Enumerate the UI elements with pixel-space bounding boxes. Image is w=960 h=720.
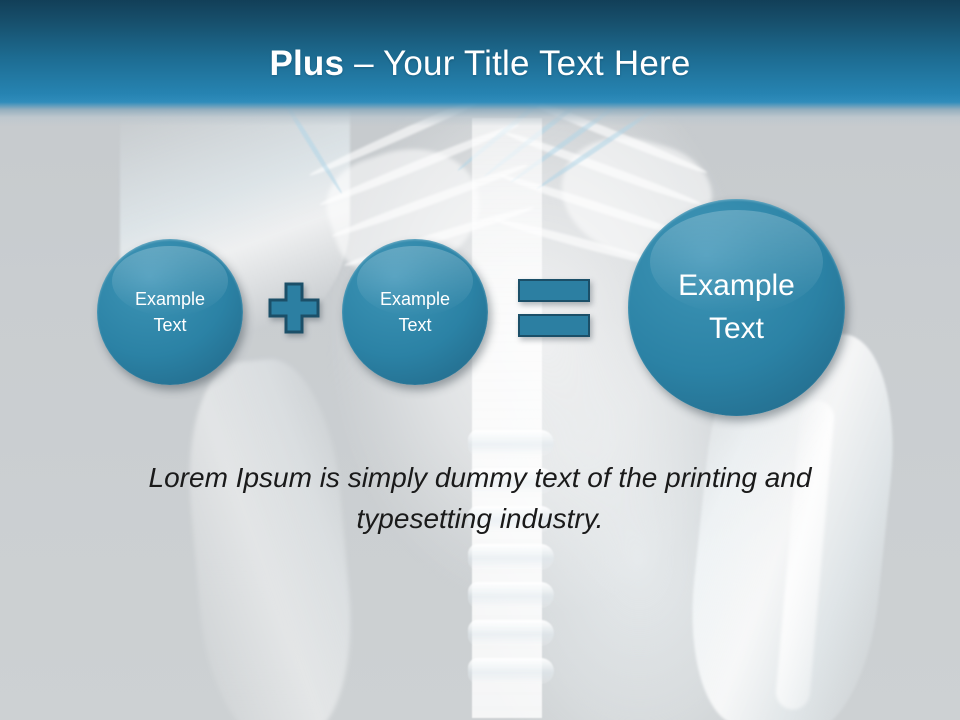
result-circle-line1: Example xyxy=(678,265,795,308)
equals-bar-top xyxy=(518,279,590,302)
operand-circle-2-line2: Text xyxy=(398,312,431,338)
plus-equals-diagram: Example Text Example Text Example Text xyxy=(0,0,960,720)
equals-operator-icon xyxy=(518,279,590,337)
slide: Plus – Your Title Text Here Example Text… xyxy=(0,0,960,720)
plus-operator-icon xyxy=(268,282,320,334)
operand-circle-2-line1: Example xyxy=(380,286,450,312)
operand-circle-1[interactable]: Example Text xyxy=(97,239,243,385)
equals-bar-bottom xyxy=(518,314,590,337)
operand-circle-1-line2: Text xyxy=(153,312,186,338)
operand-circle-2[interactable]: Example Text xyxy=(342,239,488,385)
result-circle[interactable]: Example Text xyxy=(628,199,845,416)
operand-circle-1-line1: Example xyxy=(135,286,205,312)
body-paragraph: Lorem Ipsum is simply dummy text of the … xyxy=(110,458,850,540)
result-circle-line2: Text xyxy=(709,308,764,351)
